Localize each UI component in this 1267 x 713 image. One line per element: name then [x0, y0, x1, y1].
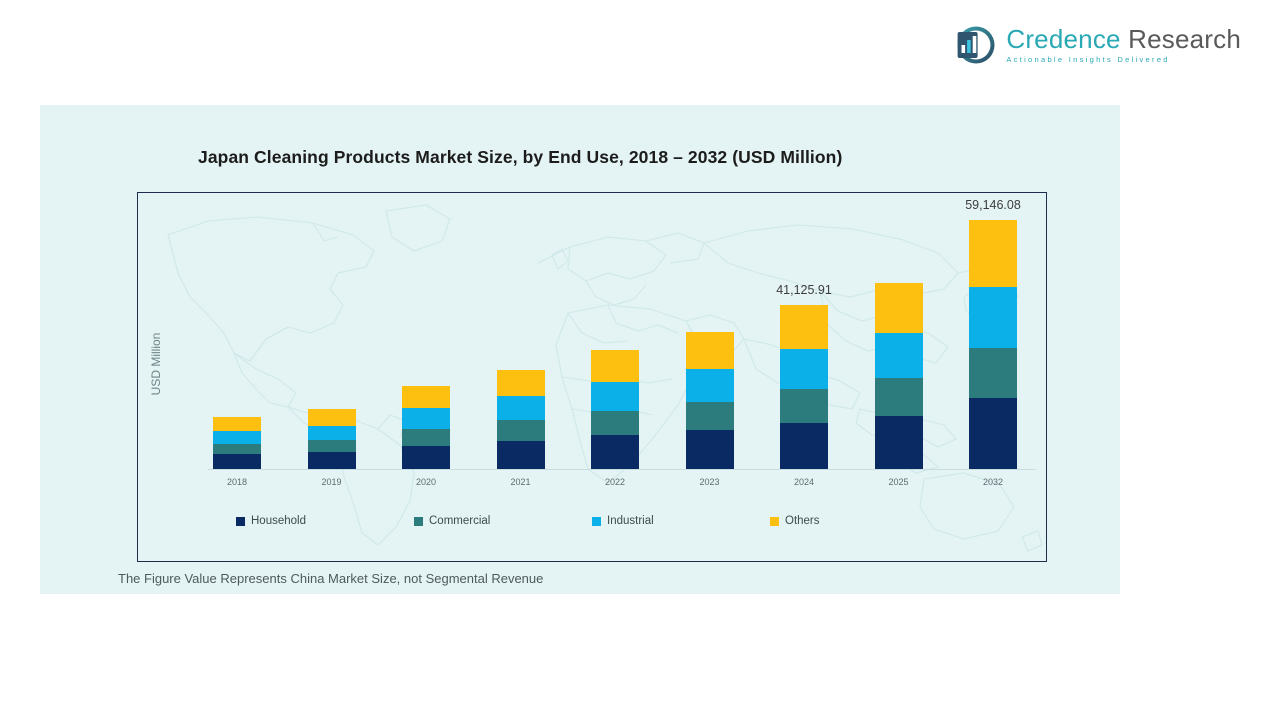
bar-segment-household[interactable] — [686, 430, 734, 469]
bar-segment-household[interactable] — [497, 441, 545, 469]
bar-group-2021 — [497, 369, 545, 469]
bar-segment-household[interactable] — [402, 446, 450, 469]
bar-segment-household[interactable] — [591, 435, 639, 469]
bar-segment-industrial[interactable] — [497, 396, 545, 420]
page-header: Credence Research Actionable Insights De… — [0, 0, 1267, 96]
x-tick-label-2025: 2025 — [869, 477, 929, 487]
stacked-bar[interactable] — [686, 332, 734, 469]
stacked-bar[interactable] — [308, 409, 356, 469]
credence-research-logo: Credence Research Actionable Insights De… — [955, 24, 1241, 66]
bar-group-2025 — [875, 283, 923, 469]
bar-group-2018 — [213, 417, 261, 469]
stacked-bar[interactable] — [969, 220, 1017, 469]
legend-label: Others — [785, 515, 820, 527]
chart-legend: HouseholdCommercialIndustrialOthers — [138, 515, 1046, 527]
logo-tagline: Actionable Insights Delivered — [1006, 56, 1241, 64]
bar-group-2022 — [591, 350, 639, 469]
bar-segment-industrial[interactable] — [308, 426, 356, 440]
bar-segment-industrial[interactable] — [780, 349, 828, 389]
x-tick-label-2020: 2020 — [396, 477, 456, 487]
legend-label: Commercial — [429, 515, 490, 527]
x-tick-label-2018: 2018 — [207, 477, 267, 487]
bar-group-2032 — [969, 220, 1017, 469]
x-tick-label-2019: 2019 — [302, 477, 362, 487]
bar-segment-industrial[interactable] — [213, 431, 261, 444]
legend-swatch-icon — [592, 517, 601, 526]
bar-segment-industrial[interactable] — [686, 369, 734, 402]
bar-segment-industrial[interactable] — [402, 408, 450, 428]
bar-value-label-2032: 59,146.08 — [913, 198, 1047, 212]
legend-label: Household — [251, 515, 306, 527]
legend-label: Industrial — [607, 515, 654, 527]
bar-chart-circle-icon — [955, 24, 997, 66]
legend-item-industrial[interactable]: Industrial — [592, 515, 770, 527]
stacked-bar[interactable] — [213, 417, 261, 469]
legend-swatch-icon — [770, 517, 779, 526]
bar-segment-others[interactable] — [213, 417, 261, 431]
bar-segment-others[interactable] — [875, 283, 923, 333]
x-tick-label-2022: 2022 — [585, 477, 645, 487]
bar-segment-household[interactable] — [213, 454, 261, 469]
bar-segment-household[interactable] — [875, 416, 923, 469]
stacked-bar[interactable] — [402, 386, 450, 469]
bar-segment-industrial[interactable] — [969, 287, 1017, 348]
chart-footnote: The Figure Value Represents China Market… — [118, 571, 543, 586]
x-axis-line — [208, 469, 1036, 470]
bar-segment-commercial[interactable] — [686, 402, 734, 430]
bar-segment-household[interactable] — [308, 452, 356, 469]
bar-segment-household[interactable] — [969, 398, 1017, 469]
bar-segment-others[interactable] — [686, 332, 734, 369]
legend-item-household[interactable]: Household — [236, 515, 414, 527]
x-tick-label-2024: 2024 — [774, 477, 834, 487]
x-tick-label-2023: 2023 — [680, 477, 740, 487]
chart-plot-area: 20182019202020212022202341,125.912024202… — [138, 193, 1046, 561]
bar-segment-others[interactable] — [780, 305, 828, 349]
x-tick-label-2021: 2021 — [491, 477, 551, 487]
logo-name-part2: Research — [1128, 24, 1241, 54]
bar-value-label-2024: 41,125.91 — [724, 283, 884, 297]
logo-wordmark: Credence Research Actionable Insights De… — [1006, 26, 1241, 64]
bar-segment-commercial[interactable] — [780, 389, 828, 422]
legend-swatch-icon — [414, 517, 423, 526]
chart-plot-frame: USD Million 20182019202020212022202341,1… — [137, 192, 1047, 562]
bar-segment-industrial[interactable] — [591, 382, 639, 411]
logo-name-part1: Credence — [1006, 24, 1120, 54]
bar-segment-commercial[interactable] — [497, 420, 545, 440]
stacked-bar[interactable] — [591, 350, 639, 469]
legend-item-commercial[interactable]: Commercial — [414, 515, 592, 527]
bar-segment-others[interactable] — [969, 220, 1017, 287]
bar-segment-industrial[interactable] — [875, 333, 923, 378]
bar-segment-commercial[interactable] — [875, 378, 923, 416]
bar-segment-commercial[interactable] — [402, 429, 450, 446]
bar-segment-commercial[interactable] — [308, 440, 356, 452]
figure-panel: Japan Cleaning Products Market Size, by … — [40, 105, 1120, 594]
bar-segment-commercial[interactable] — [213, 444, 261, 455]
bar-segment-commercial[interactable] — [969, 348, 1017, 399]
bar-group-2019 — [308, 409, 356, 469]
bar-segment-others[interactable] — [591, 350, 639, 382]
bar-segment-others[interactable] — [402, 386, 450, 408]
chart-title: Japan Cleaning Products Market Size, by … — [198, 147, 1078, 168]
legend-swatch-icon — [236, 517, 245, 526]
bar-group-2020 — [402, 386, 450, 469]
bar-segment-household[interactable] — [780, 423, 828, 469]
legend-item-others[interactable]: Others — [770, 515, 948, 527]
bar-group-2024 — [780, 305, 828, 469]
stacked-bar[interactable] — [875, 283, 923, 469]
bar-segment-others[interactable] — [308, 409, 356, 425]
bar-segment-others[interactable] — [497, 370, 545, 397]
bar-group-2023 — [686, 332, 734, 469]
logo-company-name: Credence Research — [1006, 26, 1241, 52]
bar-segment-commercial[interactable] — [591, 411, 639, 435]
stacked-bar[interactable] — [780, 305, 828, 469]
x-tick-label-2032: 2032 — [963, 477, 1023, 487]
stacked-bar[interactable] — [497, 370, 545, 470]
